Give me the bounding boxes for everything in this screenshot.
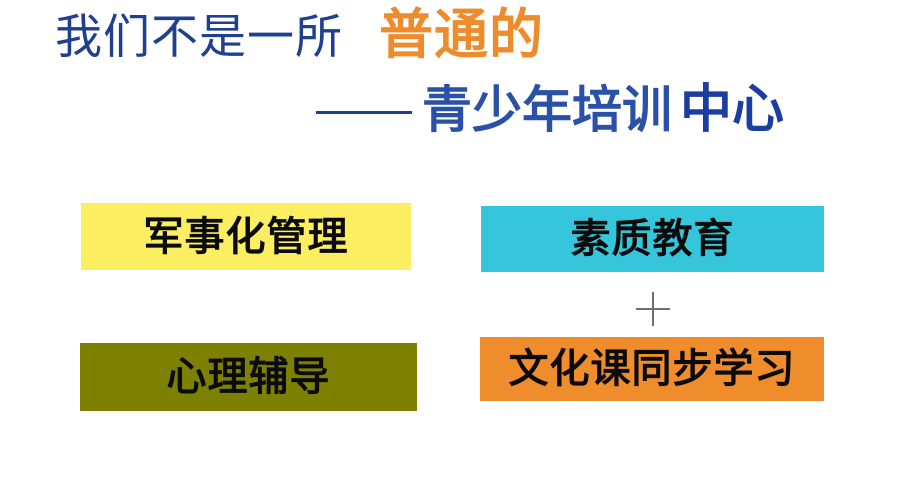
feature-box-military-management: 军事化管理 xyxy=(81,203,411,270)
promo-poster: 我们不是一所 普通的 青少年培训 中心 军事化管理 素质教育 心理辅导 文化课同… xyxy=(0,0,900,478)
feature-label: 心理辅导 xyxy=(167,357,331,397)
feature-grid: 军事化管理 素质教育 心理辅导 文化课同步学习 xyxy=(0,0,900,478)
feature-label: 素质教育 xyxy=(571,219,735,259)
feature-box-academic-sync-study: 文化课同步学习 xyxy=(480,337,824,401)
feature-box-psychological-counseling: 心理辅导 xyxy=(80,343,417,411)
feature-box-quality-education: 素质教育 xyxy=(481,206,824,272)
feature-label: 文化课同步学习 xyxy=(509,349,796,389)
feature-label: 军事化管理 xyxy=(144,217,349,257)
plus-icon xyxy=(636,292,670,326)
